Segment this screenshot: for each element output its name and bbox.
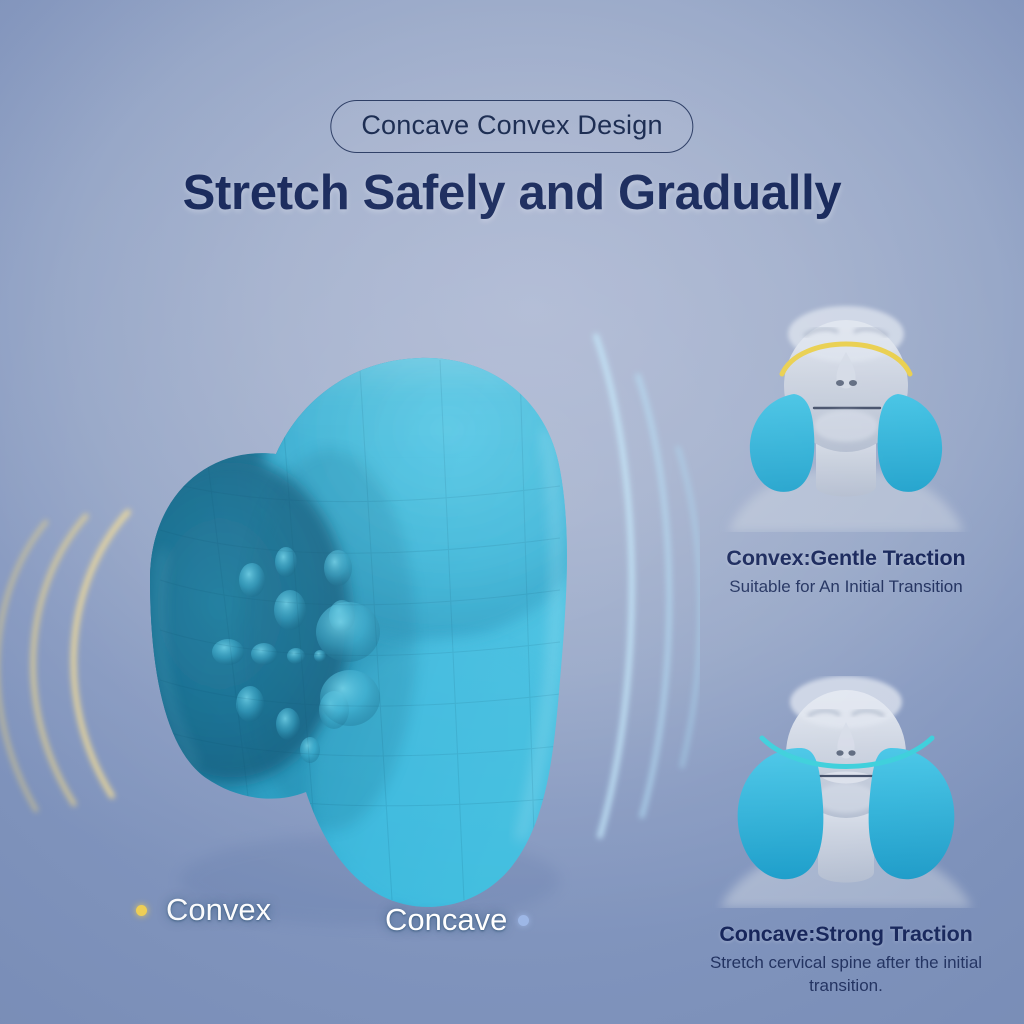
convex-card-subtitle: Suitable for An Initial Transition (690, 576, 1002, 598)
left-wave-group (0, 512, 128, 810)
convex-figure (690, 300, 1002, 532)
nostril-left (836, 380, 844, 386)
traction-card-concave: Concave:Strong Traction Stretch cervical… (690, 676, 1002, 997)
product-hero: Convex Concave (0, 280, 700, 940)
nostril-right (848, 751, 855, 757)
nostril-left (836, 751, 843, 757)
concave-callout-label: Concave (385, 902, 507, 938)
pillow-wing-left (750, 394, 815, 492)
convex-callout-label: Convex (166, 892, 271, 928)
pillow-wing-left (738, 748, 824, 879)
infographic-canvas: Concave Convex Design Stretch Safely and… (0, 0, 1024, 1024)
convex-marker-dot (136, 905, 147, 916)
pillow-wing-right (869, 748, 955, 879)
page-title: Stretch Safely and Gradually (183, 165, 842, 221)
concave-marker-dot (518, 915, 529, 926)
concave-card-title: Concave:Strong Traction (690, 922, 1002, 947)
forehead (790, 676, 902, 728)
pillow-wing-right (878, 394, 943, 492)
product-body (114, 340, 600, 920)
design-badge: Concave Convex Design (330, 100, 693, 153)
traction-mode-panel: Convex:Gentle Traction Suitable for An I… (690, 300, 1002, 997)
convex-card-title: Convex:Gentle Traction (690, 546, 1002, 571)
concave-card-subtitle: Stretch cervical spine after the initial… (690, 952, 1002, 997)
chin (814, 410, 878, 442)
traction-card-convex: Convex:Gentle Traction Suitable for An I… (690, 300, 1002, 598)
chin (816, 783, 876, 813)
product-illustration (0, 280, 700, 940)
concave-figure (690, 676, 1002, 908)
right-wave-group (596, 336, 700, 836)
nostril-right (849, 380, 857, 386)
